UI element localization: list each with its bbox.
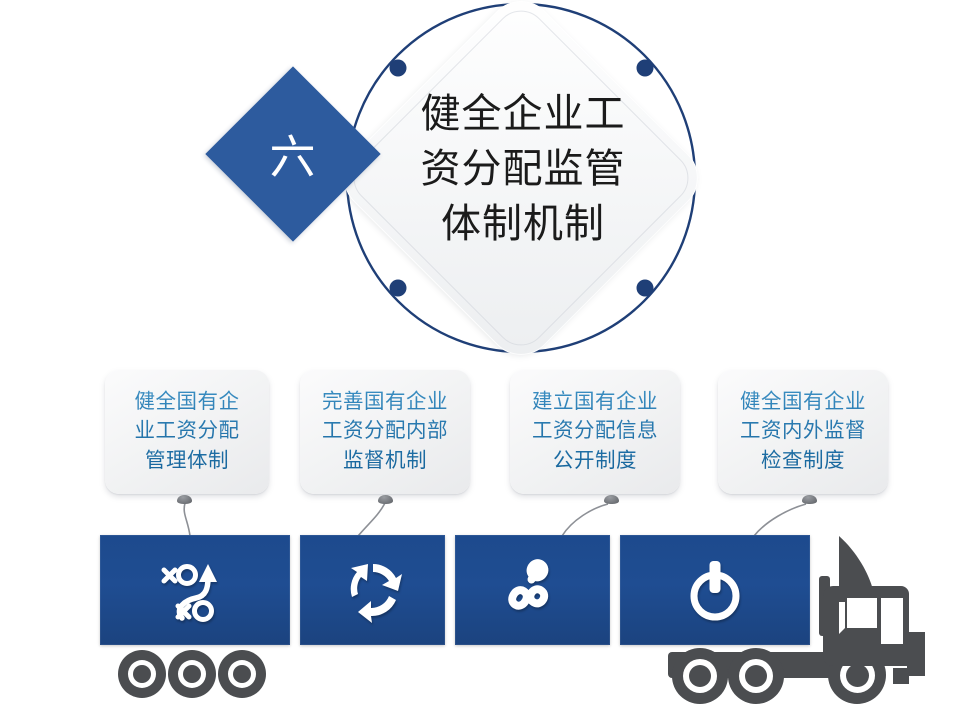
pin-icon-4 xyxy=(802,495,817,504)
infographic-canvas: 六 健全企业工 资分配监管 体制机制 健全国有企 业工资分配 管理体制 完善国有… xyxy=(0,0,960,720)
icon-panel-4[interactable] xyxy=(620,535,810,645)
ring-dot-bottom-left xyxy=(390,280,407,297)
icon-panel-2[interactable] xyxy=(300,535,445,645)
strategy-playbook-icon xyxy=(158,556,232,624)
ring-dot-bottom-right xyxy=(637,280,654,297)
icon-panel-1[interactable] xyxy=(100,535,290,645)
ring-dot-top-right xyxy=(637,60,654,77)
header-group: 六 健全企业工 资分配监管 体制机制 xyxy=(0,0,960,360)
page-title: 健全企业工 资分配监管 体制机制 xyxy=(378,86,668,252)
card-label-3: 建立国有企业 工资分配信息 公开制度 xyxy=(526,388,664,475)
card-label-4: 健全国有企业 工资内外监督 检查制度 xyxy=(734,388,872,475)
pin-icon-2 xyxy=(378,495,393,504)
pin-icon-1 xyxy=(177,495,192,504)
section-number-text: 六 xyxy=(231,92,355,216)
pin-icon-3 xyxy=(604,495,619,504)
trailer-wheel-1 xyxy=(118,650,166,698)
semi-truck-illustration xyxy=(795,528,960,713)
chain-link-icon xyxy=(502,556,564,624)
trailer-wheel-3 xyxy=(218,650,266,698)
card-label-1: 健全国有企 业工资分配 管理体制 xyxy=(129,388,246,475)
section-number-diamond: 六 xyxy=(205,66,380,241)
connector-3 xyxy=(540,492,660,538)
connector-1 xyxy=(150,492,270,538)
power-button-icon xyxy=(682,555,748,625)
recycle-cycle-icon xyxy=(340,557,406,623)
tractor-wheel-2 xyxy=(728,648,784,704)
trailer-wheel-2 xyxy=(168,650,216,698)
tractor-wheel-1 xyxy=(672,648,728,704)
list-item-card-2[interactable]: 完善国有企业 工资分配内部 监督机制 xyxy=(300,370,470,494)
list-item-card-1[interactable]: 健全国有企 业工资分配 管理体制 xyxy=(105,370,269,494)
icon-panel-3[interactable] xyxy=(455,535,610,645)
list-item-card-3[interactable]: 建立国有企业 工资分配信息 公开制度 xyxy=(510,370,680,494)
card-label-2: 完善国有企业 工资分配内部 监督机制 xyxy=(316,388,454,475)
connector-2 xyxy=(330,492,450,538)
list-item-card-4[interactable]: 健全国有企业 工资内外监督 检查制度 xyxy=(718,370,888,494)
ring-dot-top-left xyxy=(390,60,407,77)
